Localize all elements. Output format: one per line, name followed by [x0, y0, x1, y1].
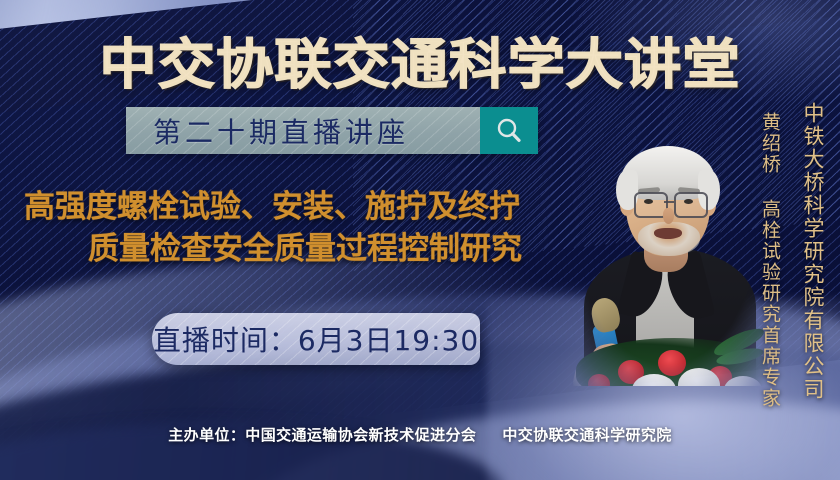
- lecture-topic-line-2: 质量检查安全质量过程控制研究: [12, 228, 602, 270]
- speaker-eye-right: [684, 199, 693, 204]
- speaker-organization: 中铁大桥科学研究院有限公司: [798, 102, 828, 401]
- footer-organizers: 主办单位：中国交通运输协会新技术促进分会中交协联交通科学研究院: [0, 424, 840, 445]
- poster-title: 中交协联交通科学大讲堂: [0, 20, 840, 99]
- episode-banner: 第二十期直播讲座: [126, 107, 538, 154]
- speaker-mouth: [654, 228, 682, 239]
- search-icon: [494, 116, 524, 146]
- poster-canvas: 中交协联交通科学大讲堂 第二十期直播讲座 高强度螺栓试验、安装、施拧及终拧 质量…: [0, 0, 840, 480]
- speaker-name-role: 黄绍桥 高栓试验研究首席专家: [757, 112, 784, 409]
- speaker-eye-left: [644, 199, 653, 204]
- flower-red-2: [658, 350, 686, 376]
- glasses-bridge: [664, 201, 674, 203]
- lecture-topic: 高强度螺栓试验、安装、施拧及终拧 质量检查安全质量过程控制研究: [12, 186, 602, 270]
- footer-org-1: 中国交通运输协会新技术促进分会: [245, 426, 476, 444]
- footer-prefix: 主办单位：: [168, 426, 245, 444]
- episode-banner-body: 第二十期直播讲座: [126, 107, 480, 154]
- live-time-badge: 直播时间：6月3日19:30: [152, 313, 480, 365]
- live-time-label: 直播时间：6月3日19:30: [153, 319, 479, 359]
- glasses-lens-right: [674, 192, 708, 218]
- lecture-topic-line-1: 高强度螺栓试验、安装、施拧及终拧: [12, 186, 602, 228]
- episode-label: 第二十期直播讲座: [153, 111, 453, 151]
- speaker-nose: [663, 208, 674, 224]
- search-button[interactable]: [480, 107, 538, 154]
- footer-org-2: 中交协联交通科学研究院: [502, 426, 671, 444]
